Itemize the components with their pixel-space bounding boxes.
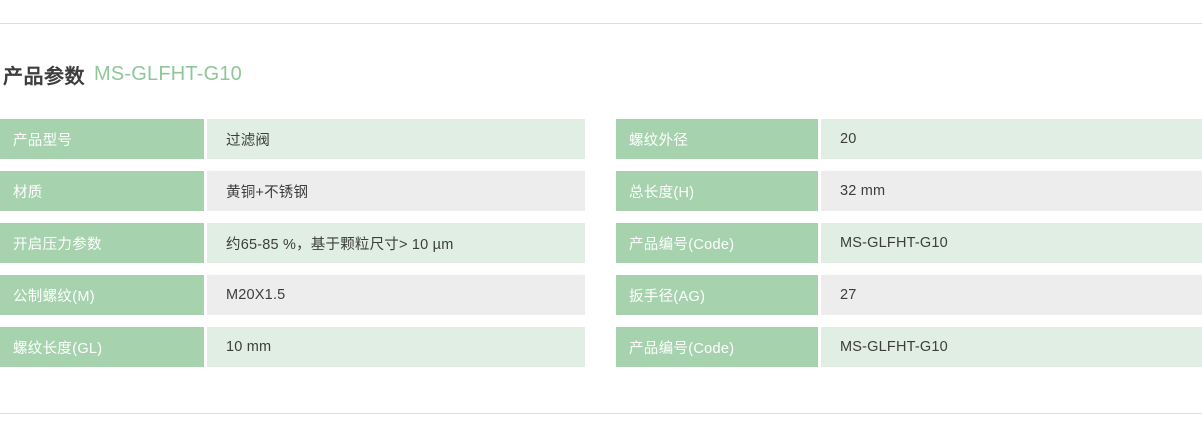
spec-label: 螺纹长度(GL) — [0, 327, 204, 367]
spec-label: 开启压力参数 — [0, 223, 204, 263]
bottom-divider — [0, 413, 1202, 414]
spec-value: M20X1.5 — [207, 275, 585, 315]
product-spec-page: 产品参数 MS-GLFHT-G10 产品型号 过滤阀 材质 黄铜+不锈钢 开启压… — [0, 0, 1202, 438]
page-title-code: MS-GLFHT-G10 — [94, 63, 242, 86]
table-row: 产品编号(Code) MS-GLFHT-G10 — [616, 223, 1202, 263]
spec-table-left: 产品型号 过滤阀 材质 黄铜+不锈钢 开启压力参数 约65-85 %，基于颗粒尺… — [0, 119, 585, 367]
table-row: 螺纹长度(GL) 10 mm — [0, 327, 585, 367]
spec-label: 产品型号 — [0, 119, 204, 159]
spec-value: 过滤阀 — [207, 119, 585, 159]
spec-value: 约65-85 %，基于颗粒尺寸> 10 µm — [207, 223, 585, 263]
spec-value: 20 — [821, 119, 1202, 159]
table-row: 公制螺纹(M) M20X1.5 — [0, 275, 585, 315]
table-row: 产品编号(Code) MS-GLFHT-G10 — [616, 327, 1202, 367]
table-row: 开启压力参数 约65-85 %，基于颗粒尺寸> 10 µm — [0, 223, 585, 263]
spec-label: 总长度(H) — [616, 171, 818, 211]
spec-label: 产品编号(Code) — [616, 327, 818, 367]
page-title: 产品参数 MS-GLFHT-G10 — [3, 60, 242, 88]
spec-value: 27 — [821, 275, 1202, 315]
table-row: 螺纹外径 20 — [616, 119, 1202, 159]
spec-table-right: 螺纹外径 20 总长度(H) 32 mm 产品编号(Code) MS-GLFHT… — [616, 119, 1202, 367]
spec-label: 扳手径(AG) — [616, 275, 818, 315]
spec-value: MS-GLFHT-G10 — [821, 223, 1202, 263]
table-row: 扳手径(AG) 27 — [616, 275, 1202, 315]
spec-value: 10 mm — [207, 327, 585, 367]
spec-label: 产品编号(Code) — [616, 223, 818, 263]
spec-value: 黄铜+不锈钢 — [207, 171, 585, 211]
spec-label: 螺纹外径 — [616, 119, 818, 159]
spec-label: 材质 — [0, 171, 204, 211]
page-title-main: 产品参数 — [3, 60, 85, 89]
spec-value: MS-GLFHT-G10 — [821, 327, 1202, 367]
table-row: 产品型号 过滤阀 — [0, 119, 585, 159]
table-row: 总长度(H) 32 mm — [616, 171, 1202, 211]
table-row: 材质 黄铜+不锈钢 — [0, 171, 585, 211]
spec-tables: 产品型号 过滤阀 材质 黄铜+不锈钢 开启压力参数 约65-85 %，基于颗粒尺… — [0, 119, 1202, 367]
spec-value: 32 mm — [821, 171, 1202, 211]
spec-label: 公制螺纹(M) — [0, 275, 204, 315]
top-divider — [0, 23, 1202, 24]
